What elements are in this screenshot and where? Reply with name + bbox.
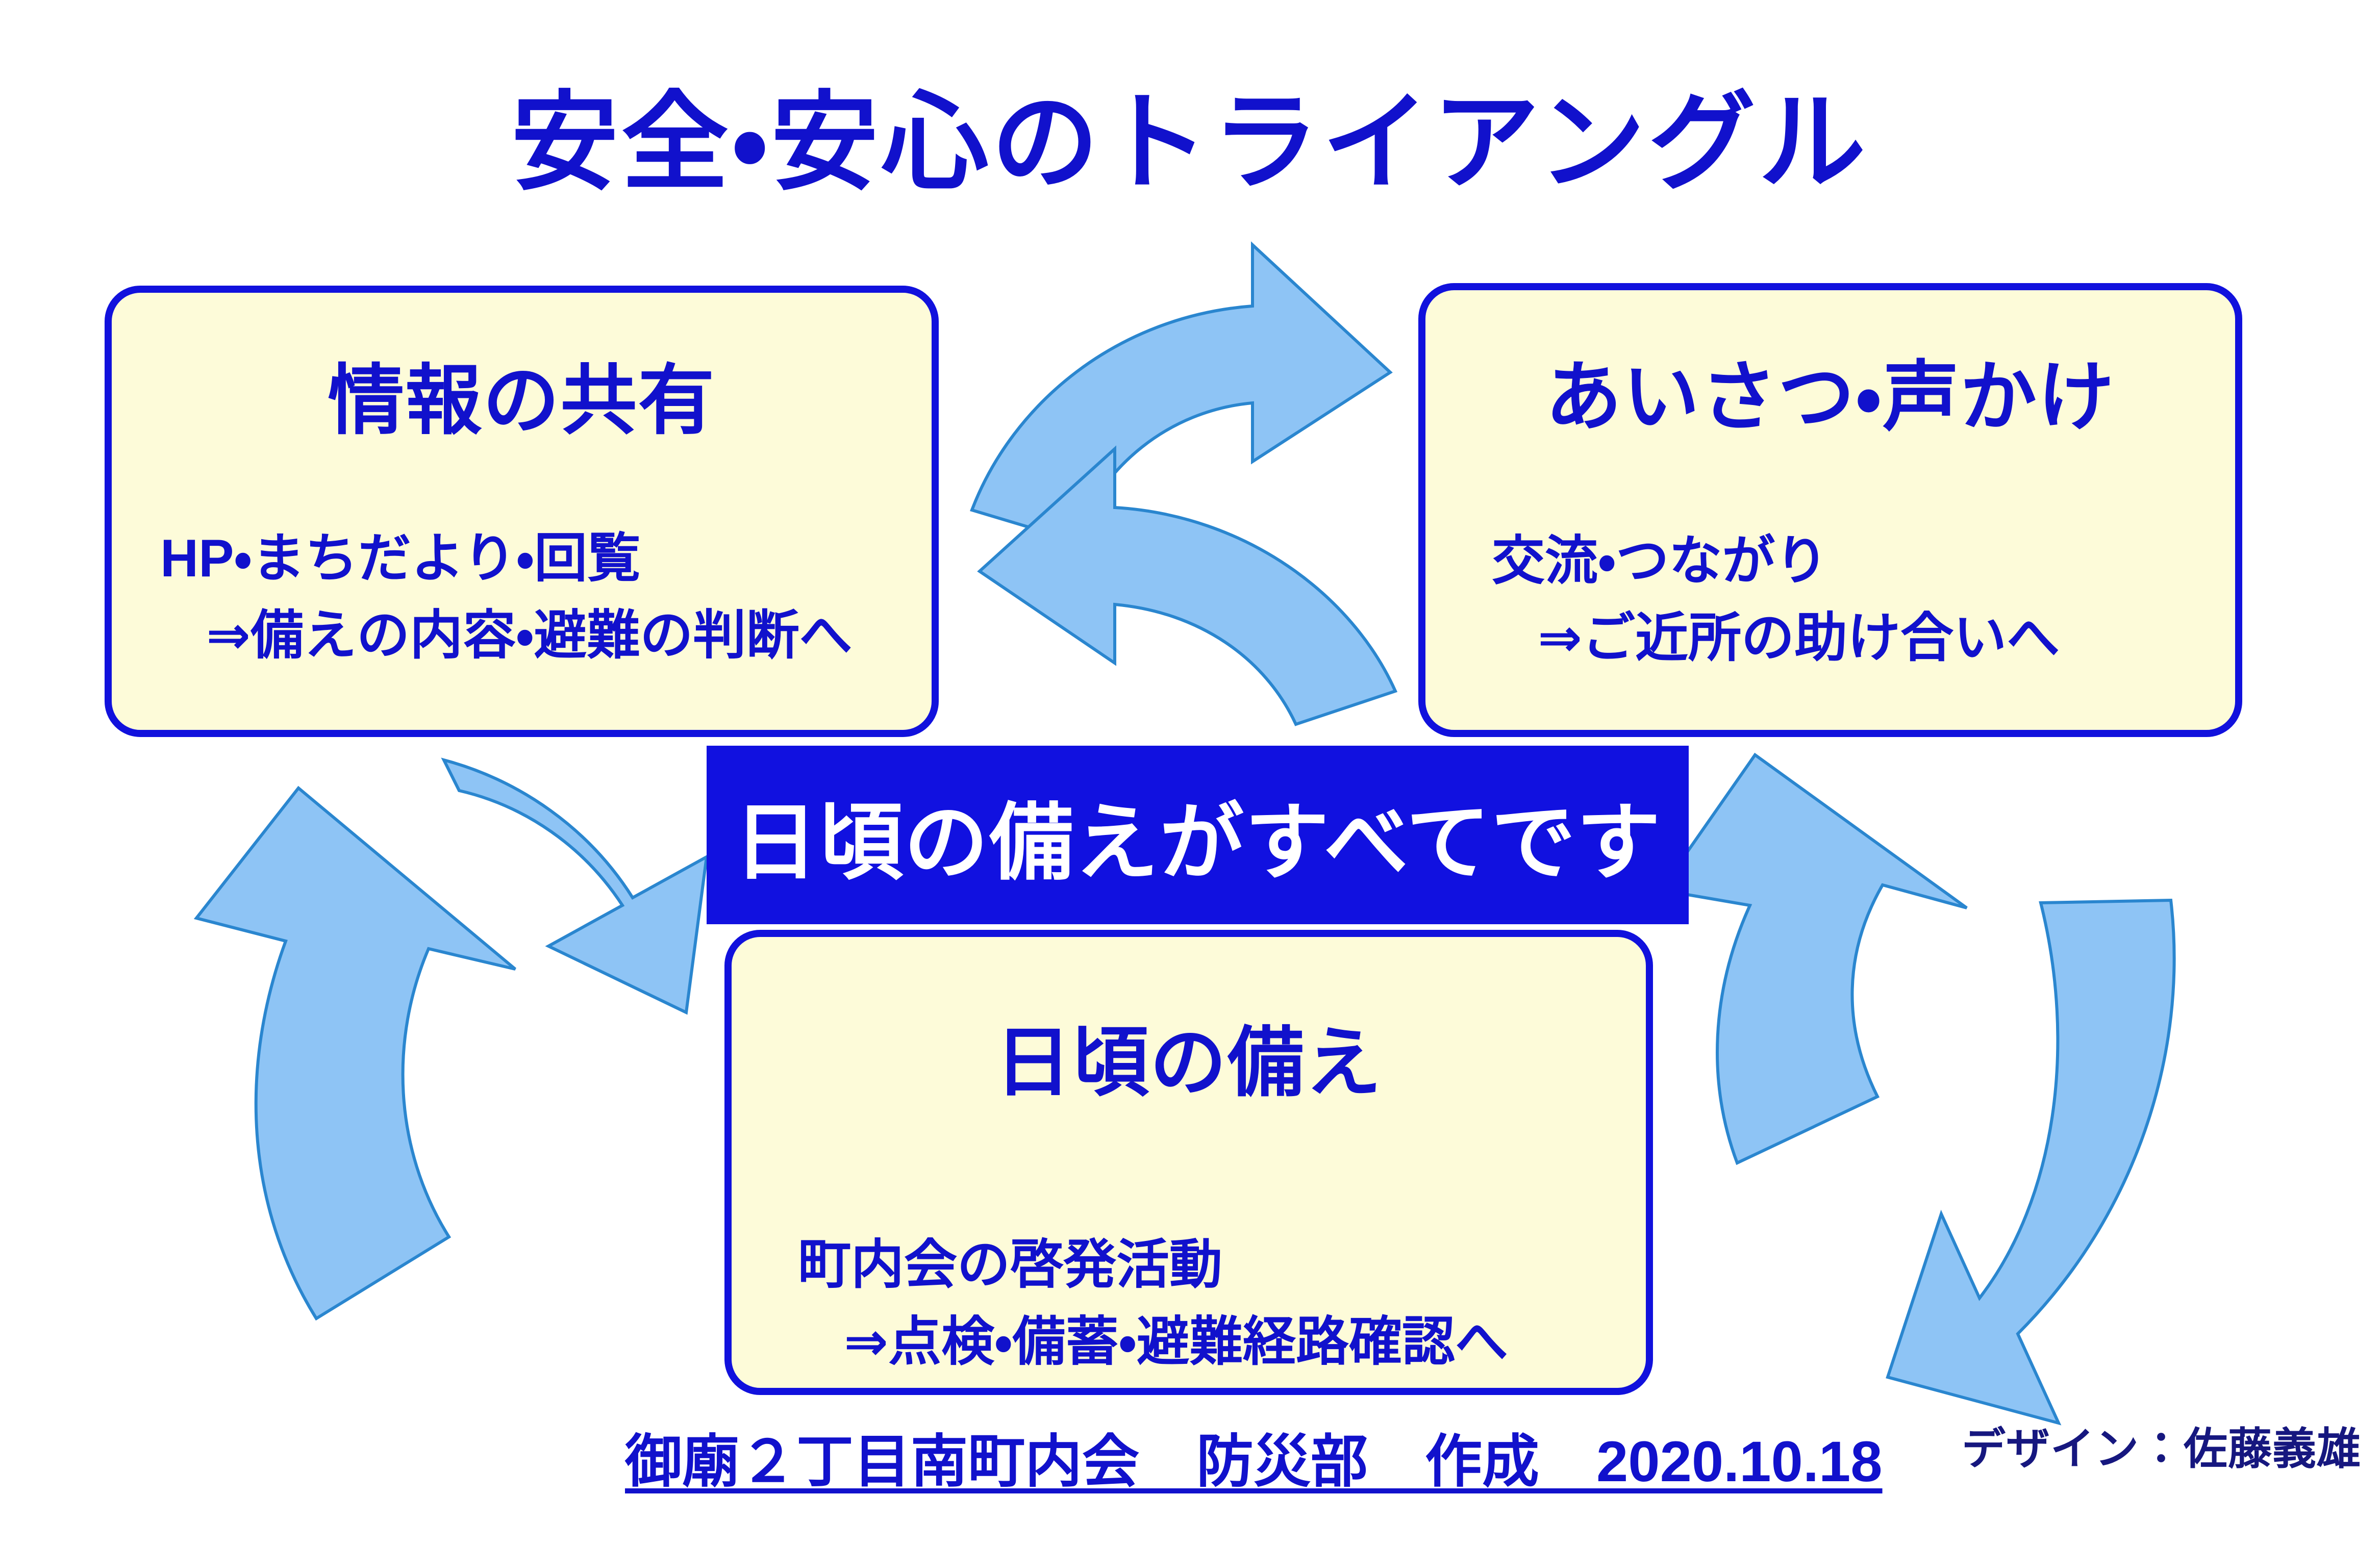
left-up-arrow bbox=[196, 788, 515, 1318]
page-title: 安全・安心のトライアングル bbox=[0, 87, 2380, 199]
right-up-arrow bbox=[1661, 755, 1967, 1163]
box-greeting-detail: 交流・つながり ⇒ご近所の助け合いへ bbox=[1425, 517, 2235, 671]
box-preparedness-line1: 町内会の啓発活動 bbox=[798, 1235, 1222, 1295]
slide-canvas: 安全・安心のトライアングル 情報の共有 HP・まちだより・回覧 ⇒備えの内容・避… bbox=[0, 0, 2380, 1547]
top-left-arrow bbox=[980, 449, 1395, 724]
box-greeting-line2: ⇒ご近所の助け合いへ bbox=[1492, 594, 2235, 671]
box-greeting-heading: あいさつ・声かけ bbox=[1425, 335, 2235, 446]
center-banner: 日頃の備えがすべてです bbox=[707, 746, 1689, 924]
box-preparedness-detail: 町内会の啓発活動 ⇒点検・備蓄・避難経路確認へ bbox=[732, 1221, 1646, 1375]
right-down-arrow bbox=[1888, 900, 2174, 1423]
box-info-line2: ⇒備えの内容・避難の判断へ bbox=[160, 592, 932, 669]
designer-credit: デザイン：佐藤義雄 bbox=[1962, 1413, 2361, 1477]
box-greeting-line1: 交流・つながり bbox=[1492, 531, 1828, 591]
footer-credit: 御廟２丁目南町内会 防災部 作成 2020.10.18 bbox=[625, 1415, 1883, 1498]
concept-box-info[interactable]: 情報の共有 HP・まちだより・回覧 ⇒備えの内容・避難の判断へ bbox=[105, 286, 939, 737]
box-info-detail: HP・まちだより・回覧 ⇒備えの内容・避難の判断へ bbox=[112, 515, 932, 669]
box-preparedness-line2: ⇒点検・備蓄・避難経路確認へ bbox=[798, 1298, 1646, 1375]
box-info-heading: 情報の共有 bbox=[112, 339, 932, 449]
concept-box-preparedness[interactable]: 日頃の備え 町内会の啓発活動 ⇒点検・備蓄・避難経路確認へ bbox=[724, 930, 1653, 1395]
top-right-arrow bbox=[972, 245, 1390, 541]
box-info-line1: HP・まちだより・回覧 bbox=[160, 529, 640, 588]
box-preparedness-heading: 日頃の備え bbox=[732, 1001, 1646, 1111]
center-banner-text: 日頃の備えがすべてです bbox=[734, 774, 1662, 896]
concept-box-greeting[interactable]: あいさつ・声かけ 交流・つながり ⇒ご近所の助け合いへ bbox=[1418, 283, 2242, 737]
left-down-arrow bbox=[444, 760, 707, 1012]
